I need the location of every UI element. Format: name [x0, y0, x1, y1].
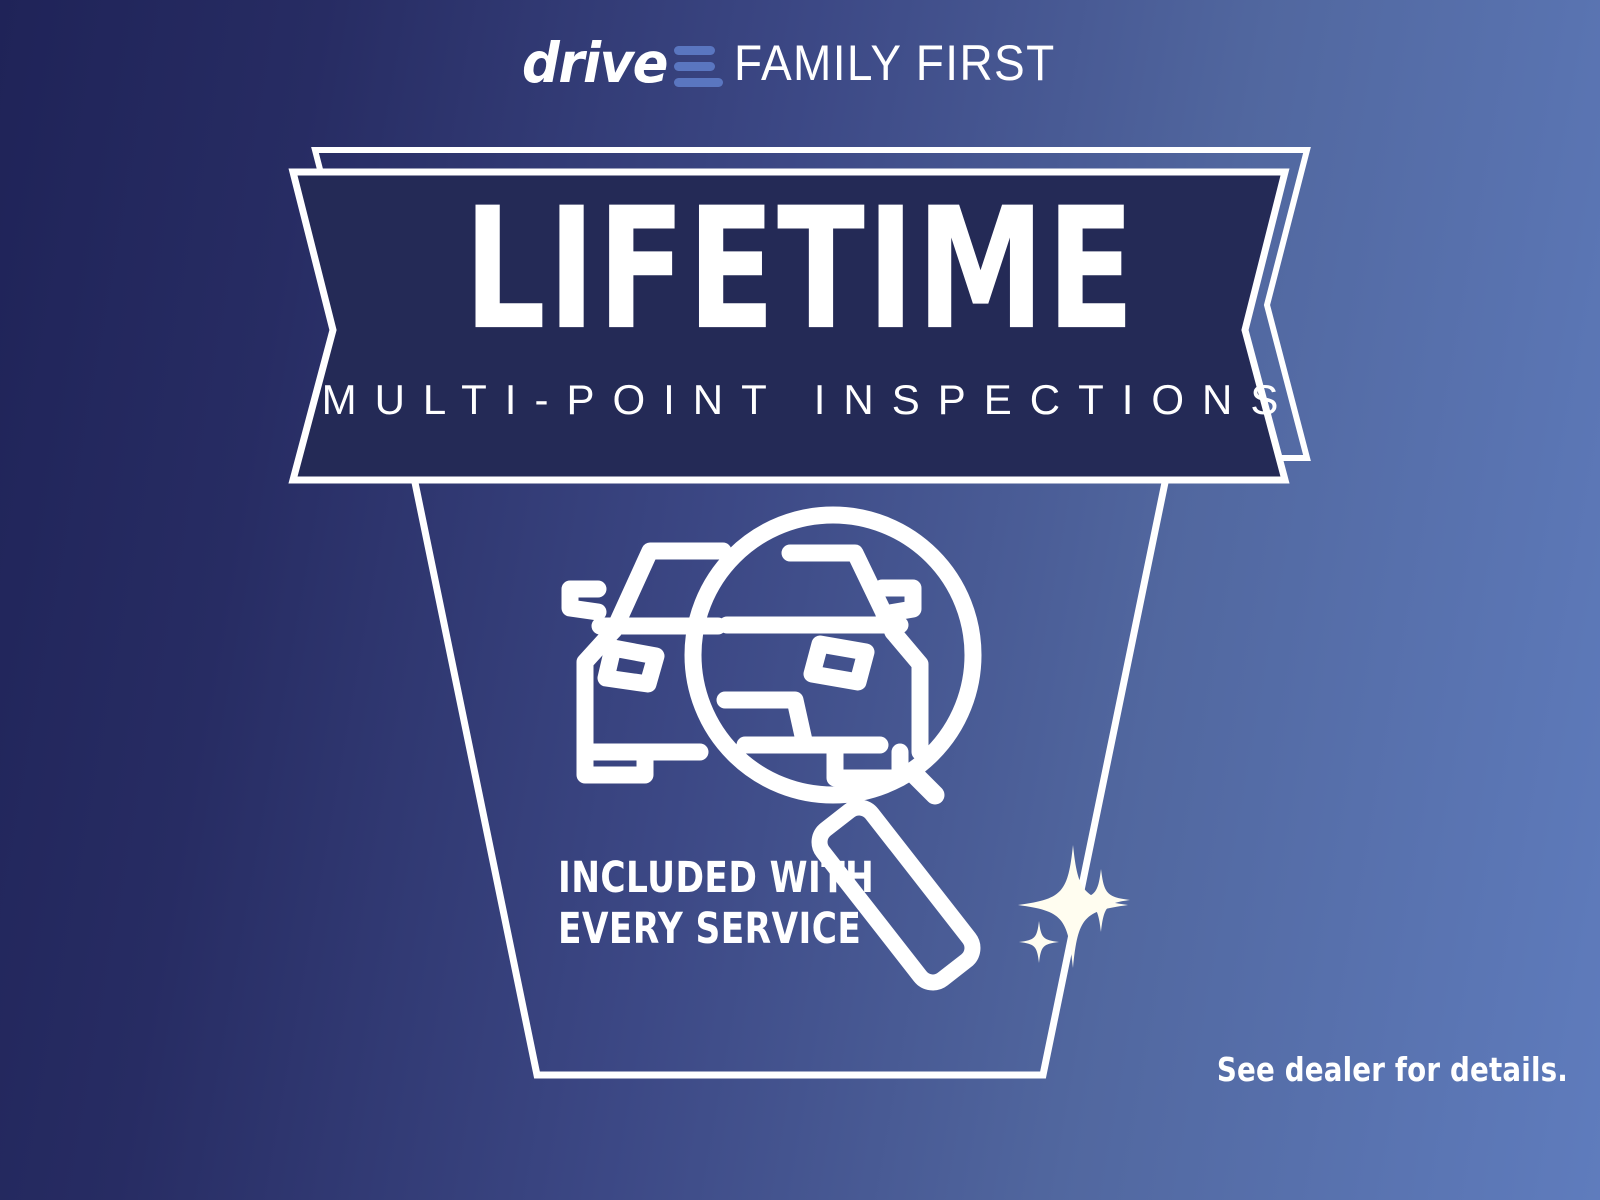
disclaimer-text: See dealer for details. — [1217, 1053, 1568, 1086]
stacked-bars-icon-bar-2 — [674, 62, 715, 71]
brand-tagline: FAMILY FIRST — [734, 38, 1056, 88]
magnifier-neck — [912, 772, 935, 795]
included-line-1: INCLUDED WITH — [558, 853, 874, 904]
car-front-icon — [570, 551, 723, 775]
sparkle-star-icon-medium — [1072, 869, 1130, 932]
sparkle-star-icon-large — [1018, 845, 1128, 968]
stacked-bars-icon-bar-3 — [674, 78, 723, 87]
included-line-2: EVERY SERVICE — [558, 904, 874, 955]
brand-wordmark: drive — [522, 36, 667, 91]
sparkle-group — [1018, 845, 1130, 968]
magnifier-lens — [693, 515, 973, 795]
included-text: INCLUDED WITH EVERY SERVICE — [558, 853, 874, 955]
stacked-bars-icon — [674, 46, 723, 87]
shield-trapezoid-outline — [398, 400, 1182, 1075]
promo-graphic: drive FAMILY FIRST — [0, 0, 1600, 1200]
car-front-icon-magnified — [725, 553, 920, 778]
sparkle-star-icon-small — [1019, 921, 1059, 963]
stacked-bars-icon-bar-1 — [674, 46, 715, 55]
brand-logo: drive FAMILY FIRST — [0, 30, 1600, 96]
banner-subtitle: MULTI-POINT INSPECTIONS — [0, 379, 1600, 421]
banner-title: LIFETIME — [112, 186, 1488, 354]
